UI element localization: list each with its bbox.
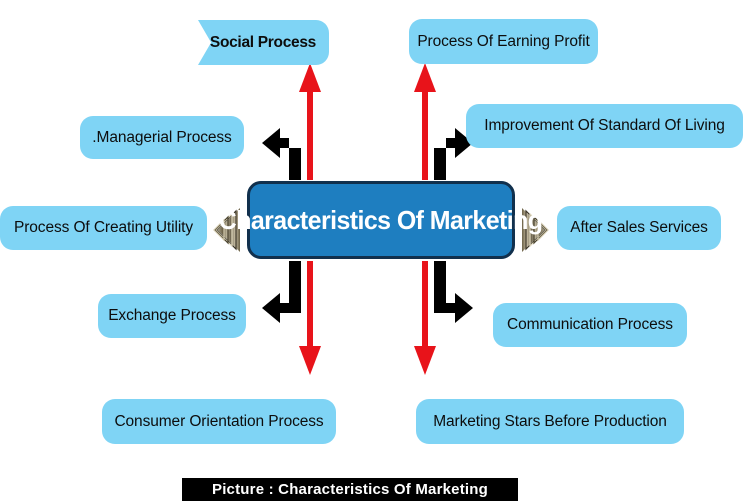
center-node-label: Characteristics Of Marketing [219, 205, 543, 236]
node-after-sales-services[interactable]: After Sales Services [557, 206, 721, 250]
node-label: Marketing Stars Before Production [433, 414, 667, 430]
node-label: Process Of Creating Utility [14, 220, 193, 236]
node-marketing-stars-before-production[interactable]: Marketing Stars Before Production [416, 399, 684, 444]
node-improvement-of-standard-of-living[interactable]: Improvement Of Standard Of Living [466, 104, 743, 148]
red-arrow-up-right [414, 63, 436, 180]
node-process-of-earning-profit[interactable]: Process Of Earning Profit [409, 19, 598, 64]
node-label: After Sales Services [570, 220, 708, 236]
diagram-canvas: Characteristics Of Marketing Social Proc… [0, 0, 745, 503]
node-label: Exchange Process [108, 308, 236, 324]
node-label: Process Of Earning Profit [417, 34, 589, 50]
black-elbow-arrow-down-right [434, 261, 473, 323]
red-arrow-up-left [299, 63, 321, 180]
node-consumer-orientation-process[interactable]: Consumer Orientation Process [102, 399, 336, 444]
node-label: Social Process [210, 35, 316, 51]
node-label: Improvement Of Standard Of Living [484, 118, 725, 134]
black-elbow-arrow-down-left [262, 261, 301, 323]
node-label: .Managerial Process [92, 130, 231, 146]
center-node-characteristics-of-marketing[interactable]: Characteristics Of Marketing [247, 181, 515, 259]
black-elbow-arrow-up-left [262, 128, 301, 180]
red-arrow-down-right [414, 261, 436, 375]
node-exchange-process[interactable]: Exchange Process [98, 294, 246, 338]
node-process-of-creating-utility[interactable]: Process Of Creating Utility [0, 206, 207, 250]
figure-caption: Picture : Characteristics Of Marketing [182, 478, 518, 501]
red-arrow-down-left [299, 261, 321, 375]
node-label: Consumer Orientation Process [114, 414, 323, 430]
node-managerial-process[interactable]: .Managerial Process [80, 116, 244, 159]
figure-caption-text: Picture : Characteristics Of Marketing [212, 481, 488, 498]
node-label: Communication Process [507, 317, 673, 333]
node-social-process[interactable]: Social Process [198, 20, 329, 65]
node-communication-process[interactable]: Communication Process [493, 303, 687, 347]
